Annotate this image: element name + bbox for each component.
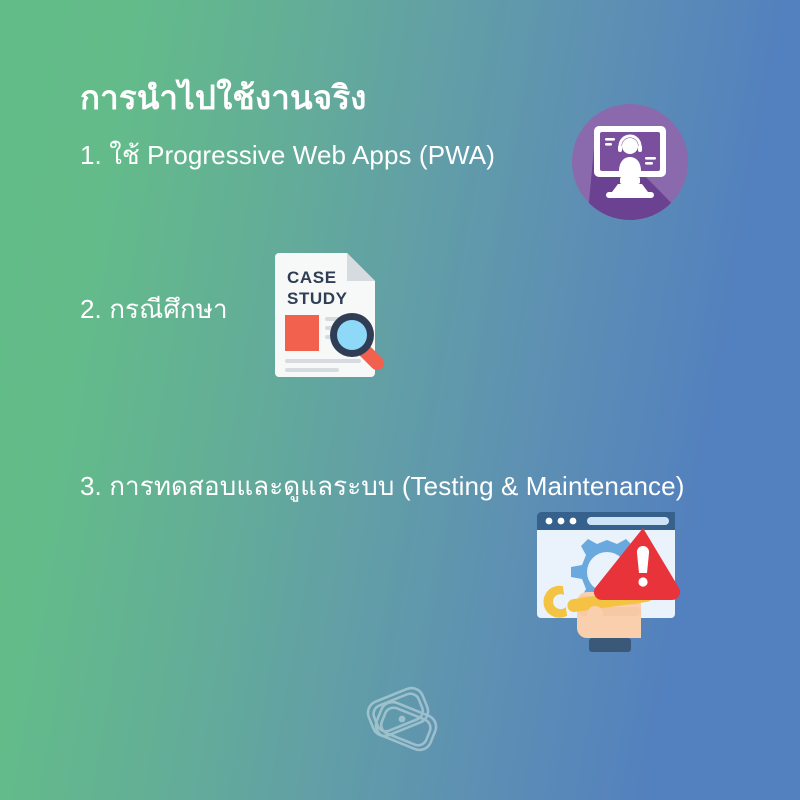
maintenance-browser-icon: [521, 506, 693, 658]
interlocking-frames-logo: [357, 678, 447, 760]
list-item-2: 2. กรณีศึกษา: [80, 294, 228, 325]
case-study-document-icon: CASE STUDY: [267, 243, 399, 381]
support-monitor-icon: [572, 104, 688, 220]
svg-text:STUDY: STUDY: [287, 289, 348, 308]
page-title: การนำไปใช้งานจริง: [80, 79, 367, 117]
list-item-1: 1. ใช้ Progressive Web Apps (PWA): [80, 140, 495, 171]
list-item-3: 3. การทดสอบและดูแลระบบ (Testing & Mainte…: [80, 471, 684, 502]
svg-text:CASE: CASE: [287, 268, 337, 287]
